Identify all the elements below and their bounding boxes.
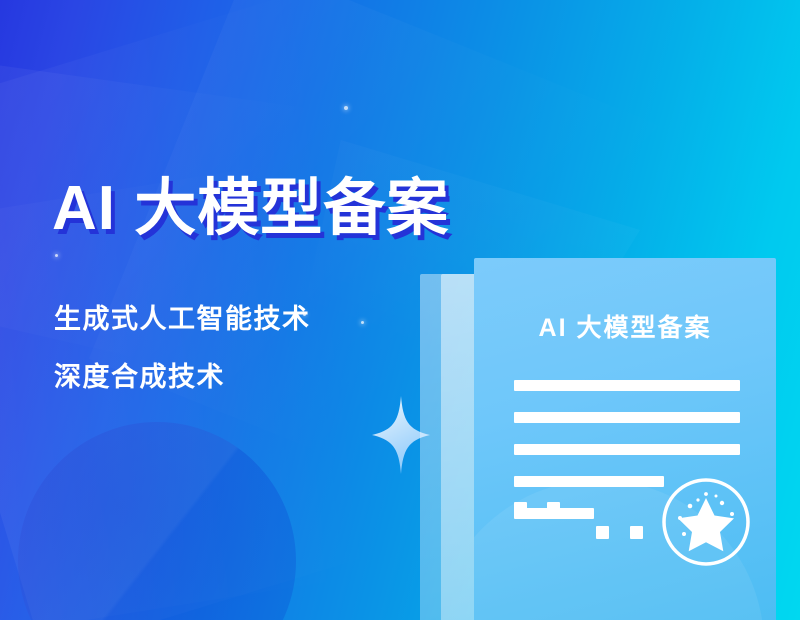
background-circle-highlight [18,422,296,620]
document-chip [596,526,609,539]
subtitle-line-2: 深度合成技术 [54,364,225,391]
document-chip [547,502,560,515]
card-title: AI 大模型备案 [474,308,776,344]
document-card-front: AI 大模型备案 [474,258,776,620]
dot-sparkle-icon [361,321,364,324]
star-seal-icon [660,476,752,568]
dot-sparkle-icon [344,106,348,110]
document-line [514,444,740,455]
document-line [514,412,740,423]
document-chip [630,526,643,539]
dot-sparkle-icon [55,254,58,257]
document-line [514,380,740,391]
background-circle-decoration [18,422,296,620]
subtitle-line-1: 生成式人工智能技术 [54,306,311,333]
page-title: AI 大模型备案 [52,178,449,240]
document-chip [514,502,527,515]
ai-model-filing-banner: AI 大模型备案 生成式人工智能技术 深度合成技术 AI 大模型备案 [0,0,800,620]
document-line [514,476,664,487]
